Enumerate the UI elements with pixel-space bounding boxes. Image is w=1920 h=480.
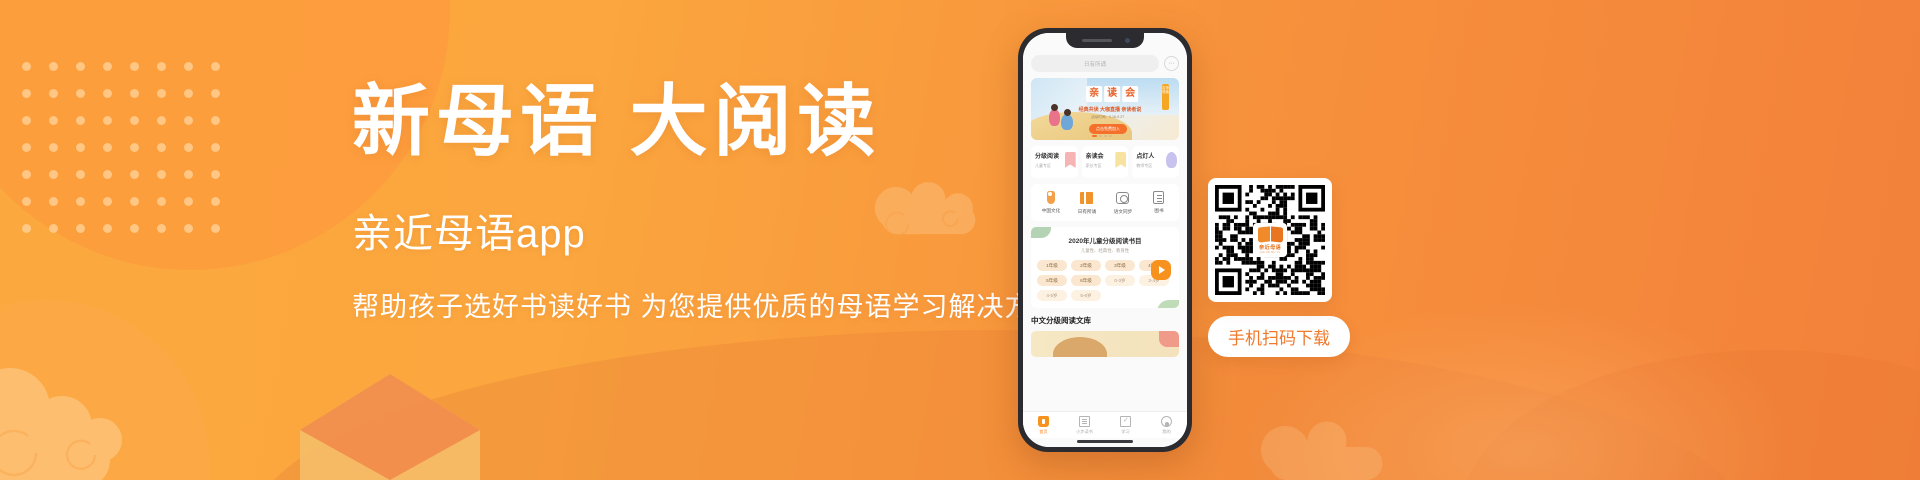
quick-link-label: 语文同步 [1105, 209, 1141, 215]
dot [22, 116, 31, 125]
dot [22, 62, 31, 71]
play-icon[interactable] [1151, 260, 1171, 280]
dot [211, 89, 220, 98]
dot [184, 89, 193, 98]
age-chip[interactable]: 0-3岁 [1105, 275, 1135, 286]
dot [76, 224, 85, 233]
dot [211, 224, 220, 233]
tab-label: 学习 [1105, 429, 1146, 435]
grade-chip[interactable]: 3年级 [1105, 260, 1135, 271]
document-icon [1153, 191, 1164, 204]
brand-logo-name: 亲近母语 [1259, 244, 1281, 251]
dot [49, 143, 58, 152]
dot [211, 116, 220, 125]
dot [22, 224, 31, 233]
leaf-decoration [1157, 300, 1179, 308]
background-hill-right [1460, 350, 1920, 480]
quick-link-label: 中国文化 [1033, 208, 1069, 214]
tab-label: 首页 [1023, 429, 1064, 435]
dot [49, 224, 58, 233]
dot [76, 116, 85, 125]
dot [157, 224, 166, 233]
dot [130, 62, 139, 71]
brand-logo: 亲近母语 QIN JIN MU YU [1253, 223, 1287, 257]
dot [211, 143, 220, 152]
dot [49, 89, 58, 98]
dot [130, 197, 139, 206]
dot [157, 89, 166, 98]
carousel-dots[interactable] [1092, 135, 1112, 137]
home-icon [1038, 416, 1049, 427]
dot [103, 116, 112, 125]
app-banner-title-char: 读 [1104, 86, 1120, 102]
app-banner-title: 亲读会 [1086, 86, 1138, 102]
quick-link-label: 图书 [1141, 208, 1177, 214]
dot [157, 62, 166, 71]
search-input[interactable]: 日有所诵 [1031, 55, 1159, 72]
hero-tagline: 帮助孩子选好书读好书 为您提供优质的母语学习解决方案 [352, 285, 1052, 324]
list-icon [1079, 416, 1090, 427]
age-chip[interactable]: 5-6岁 [1071, 290, 1101, 301]
search-placeholder: 日有所诵 [1084, 60, 1106, 68]
background-hill [250, 330, 1750, 480]
dot [211, 170, 220, 179]
grade-chip-list: 1年级2年级3年级4年级5年级6年级0-3岁3-4岁4-5岁5-6岁 [1037, 260, 1173, 301]
age-chip[interactable]: 4-5岁 [1037, 290, 1067, 301]
phone-mockup: 日有所诵 ⋯ 亲读会 名师领读 经典共读 大咖直播 亲读者说 活动时间：9.16… [1018, 28, 1192, 452]
dot [211, 197, 220, 206]
app-banner-meta: 活动时间：9.16-9.27 [1091, 115, 1124, 120]
category-card-list: 分级阅读儿童专区亲读会家长专区点灯人教师专区 [1031, 146, 1179, 178]
dot [49, 62, 58, 71]
dot [22, 197, 31, 206]
app-banner-ribbon: 名师领读 [1162, 84, 1169, 110]
dot [103, 170, 112, 179]
quick-link-图书[interactable]: 图书 [1141, 191, 1177, 215]
dot [49, 116, 58, 125]
vase-icon [1047, 191, 1055, 204]
phone-notch [1066, 33, 1144, 48]
app-banner-cta[interactable]: 点击免费加入 [1089, 124, 1127, 134]
dot [49, 170, 58, 179]
dot [103, 224, 112, 233]
promo-banner: 新母语 大阅读 亲近母语app 帮助孩子选好书读好书 为您提供优质的母语学习解决… [0, 0, 1920, 480]
dot [130, 224, 139, 233]
dot [157, 116, 166, 125]
auspicious-cloud-icon [0, 348, 180, 480]
hero-subtitle: 亲近母语app [352, 201, 1052, 259]
book-icon [1080, 192, 1093, 204]
dot [103, 62, 112, 71]
carousel-dot[interactable] [1092, 135, 1097, 137]
tab-首页[interactable]: 首页 [1023, 416, 1064, 435]
dot [130, 89, 139, 98]
hero-copy: 新母语 大阅读 亲近母语app 帮助孩子选好书读好书 为您提供优质的母语学习解决… [352, 78, 1052, 324]
quick-link-日有所诵[interactable]: 日有所诵 [1069, 191, 1105, 215]
dot [76, 89, 85, 98]
dot [130, 143, 139, 152]
booklist-subtitle: 儿童性、经典性、教育性 [1037, 248, 1173, 254]
tab-label: 我的 [1146, 429, 1187, 435]
checklist-icon [1120, 416, 1131, 427]
dot [130, 170, 139, 179]
app-banner-title-char: 会 [1122, 86, 1138, 102]
tab-label: 小步读书 [1064, 429, 1105, 435]
dot [22, 143, 31, 152]
page-title: 新母语 大阅读 [352, 78, 1052, 165]
message-icon[interactable]: ⋯ [1164, 56, 1179, 71]
app-banner-subtitle: 经典共读 大咖直播 亲读者说 [1079, 106, 1142, 113]
qr-code-card[interactable]: 亲近母语 QIN JIN MU YU [1208, 178, 1332, 302]
dot [103, 89, 112, 98]
quick-link-label: 日有所诵 [1069, 209, 1105, 215]
quick-link-语文同步[interactable]: 语文同步 [1105, 191, 1141, 215]
dot [184, 62, 193, 71]
background-circle-bottom-left [0, 300, 210, 480]
category-card[interactable]: 亲读会家长专区 [1082, 146, 1129, 178]
dot [211, 62, 220, 71]
grade-chip[interactable]: 5年级 [1037, 275, 1067, 286]
carousel-dot[interactable] [1109, 135, 1112, 137]
library-card[interactable] [1031, 331, 1179, 357]
bottom-tabbar: 首页小步读书学习我的 [1023, 411, 1187, 438]
download-button[interactable]: 手机扫码下载 [1208, 316, 1350, 357]
dot [130, 116, 139, 125]
book-shape-decoration [300, 360, 480, 480]
tab-小步读书[interactable]: 小步读书 [1064, 416, 1105, 435]
dot [49, 197, 58, 206]
app-banner-title-char: 亲 [1086, 86, 1102, 102]
booklist-title: 2020年儿童分级阅读书目 [1037, 235, 1173, 245]
category-card-shape [1166, 152, 1177, 168]
app-screen: 日有所诵 ⋯ 亲读会 名师领读 经典共读 大咖直播 亲读者说 活动时间：9.16… [1023, 33, 1187, 447]
home-indicator [1077, 440, 1133, 443]
booklist-card[interactable]: 2020年儿童分级阅读书目 儿童性、经典性、教育性 1年级2年级3年级4年级5年… [1031, 227, 1179, 308]
dot [76, 170, 85, 179]
library-title: 中文分级阅读文库 [1031, 315, 1179, 326]
tab-我的[interactable]: 我的 [1146, 416, 1187, 435]
dot [157, 170, 166, 179]
dot [184, 224, 193, 233]
dot-grid-pattern [22, 62, 246, 251]
dot [103, 143, 112, 152]
brand-logo-pinyin: QIN JIN MU YU [1260, 251, 1281, 254]
dot [76, 143, 85, 152]
dot [157, 143, 166, 152]
tab-学习[interactable]: 学习 [1105, 416, 1146, 435]
dot [157, 197, 166, 206]
auspicious-cloud-icon [1240, 405, 1420, 480]
dot [76, 197, 85, 206]
user-icon [1161, 416, 1172, 427]
grade-chip[interactable]: 6年级 [1071, 275, 1101, 286]
carousel-dot[interactable] [1104, 135, 1107, 137]
dot [184, 116, 193, 125]
dot [103, 197, 112, 206]
sync-icon [1116, 192, 1129, 204]
qr-download-block: 亲近母语 QIN JIN MU YU 手机扫码下载 [1208, 178, 1332, 357]
quick-link-中国文化[interactable]: 中国文化 [1033, 191, 1069, 215]
dot [76, 62, 85, 71]
grade-chip[interactable]: 1年级 [1037, 260, 1067, 271]
quick-link-row: 中国文化日有所诵语文同步图书 [1031, 184, 1179, 221]
dot [184, 170, 193, 179]
category-card[interactable]: 点灯人教师专区 [1132, 146, 1179, 178]
grade-chip[interactable]: 2年级 [1071, 260, 1101, 271]
dot [22, 89, 31, 98]
category-card[interactable]: 分级阅读儿童专区 [1031, 146, 1078, 178]
dot [184, 143, 193, 152]
app-promo-banner[interactable]: 亲读会 名师领读 经典共读 大咖直播 亲读者说 活动时间：9.16-9.27 点… [1031, 78, 1179, 140]
dot [22, 170, 31, 179]
dot [184, 197, 193, 206]
carousel-dot[interactable] [1099, 135, 1102, 137]
